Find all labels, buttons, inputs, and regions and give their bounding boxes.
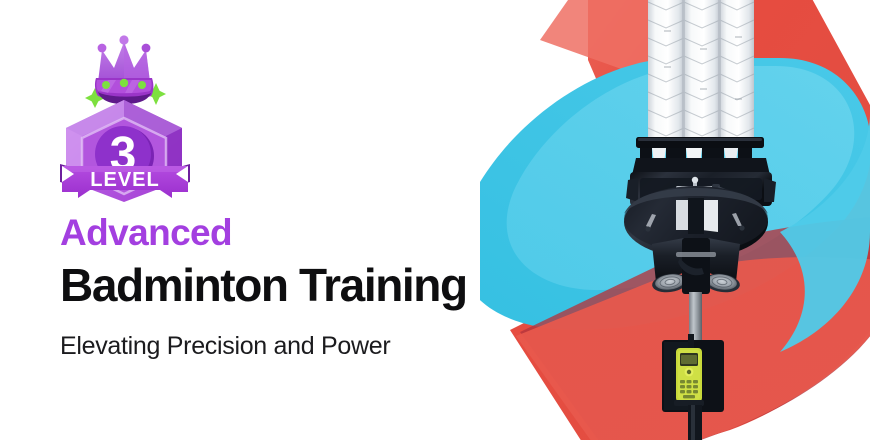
level-badge: 3 LEVEL (52, 22, 198, 202)
promo-banner: 3 LEVEL Advanced Badminton Training Elev… (0, 0, 870, 440)
control-panel-assembly (662, 334, 724, 412)
banner-copy: Advanced Badminton Training Elevating Pr… (60, 214, 530, 361)
crown-gem (138, 81, 146, 89)
crown-gem (120, 79, 128, 87)
head-right-tab (764, 178, 776, 202)
shuttlecock-tubes (648, 0, 754, 140)
badge-level-label: LEVEL (90, 169, 159, 191)
crown-icon (95, 35, 153, 104)
page-title: Badminton Training (60, 260, 530, 312)
eyebrow-text: Advanced (60, 214, 530, 251)
subtitle-text: Elevating Precision and Power (60, 331, 530, 361)
crown-gem (102, 81, 110, 89)
product-artwork (480, 0, 870, 440)
bracket-bar (676, 252, 716, 257)
